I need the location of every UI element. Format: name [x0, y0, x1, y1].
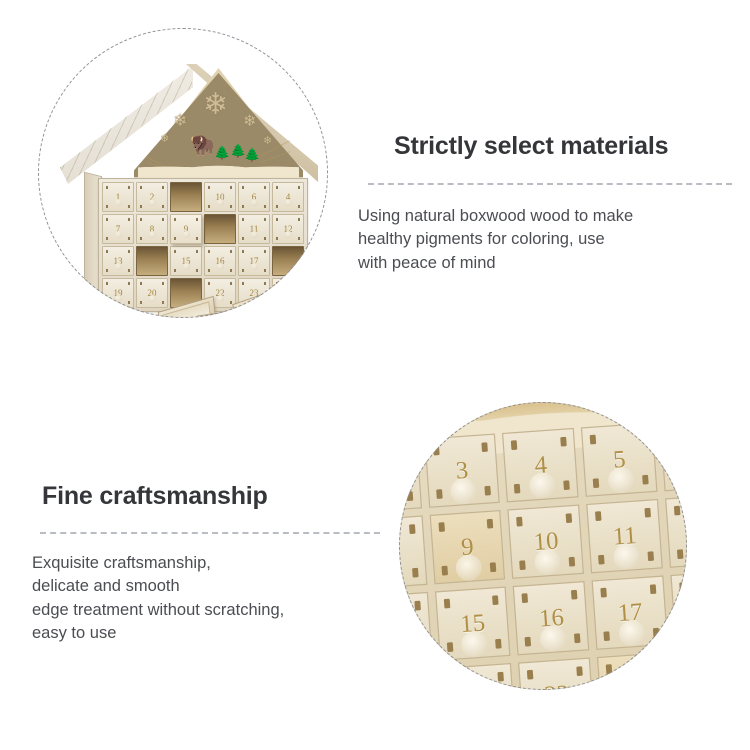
- closeup-drawer-cell[interactable]: 20: [399, 668, 438, 690]
- drawer-cell[interactable]: 11: [238, 214, 270, 244]
- closeup-drawer-cell[interactable]: 15: [434, 586, 510, 660]
- drawer-cell[interactable]: 19: [102, 278, 134, 308]
- drawer-cell[interactable]: 10: [204, 182, 236, 212]
- closeup-drawer-cell[interactable]: 21: [440, 663, 516, 690]
- drawer-cell[interactable]: 6: [238, 182, 270, 212]
- description-line: Using natural boxwood wood to make: [358, 205, 744, 228]
- closeup-drawer-cell[interactable]: 9: [429, 510, 505, 584]
- closeup-drawer-grid: 4 3 4 5 6 8 9 10 11 12 14 15 16 17 18 20…: [399, 417, 687, 690]
- dashed-divider: [40, 532, 380, 534]
- closeup-drawer-cell[interactable]: 24: [676, 646, 687, 690]
- section-title: Fine craftsmanship: [42, 482, 404, 511]
- drawer-cell-open[interactable]: [136, 246, 168, 276]
- closeup-drawer-cell[interactable]: 5: [581, 422, 657, 496]
- closeup-drawer-cell[interactable]: 18: [671, 570, 687, 644]
- drawer-cell[interactable]: 17: [238, 246, 270, 276]
- closeup-drawer-cell[interactable]: 4: [399, 439, 422, 513]
- snowflake-icon: ❄: [160, 134, 169, 145]
- snowflake-icon: ❄: [243, 114, 256, 130]
- closeup-drawer-cell[interactable]: 10: [508, 504, 584, 578]
- feature-block-materials: Strictly select materials Using natural …: [358, 132, 744, 275]
- drawer-cell[interactable]: 8: [136, 214, 168, 244]
- closeup-drawer-cell[interactable]: 6: [660, 417, 687, 491]
- description-line: delicate and smooth: [32, 575, 404, 598]
- drawer-cell[interactable]: 15: [170, 246, 202, 276]
- closeup-illustration: 4 3 4 5 6 8 9 10 11 12 14 15 16 17 18 20…: [399, 402, 687, 690]
- closeup-drawer-cell[interactable]: 3: [424, 433, 500, 507]
- feature-description: Exquisite craftsmanship, delicate and sm…: [32, 552, 404, 646]
- closeup-drawer-cell[interactable]: 22: [519, 657, 595, 690]
- drawer-cell-open[interactable]: [170, 182, 202, 212]
- drawer-cell-open[interactable]: [204, 214, 236, 244]
- product-feature-panel: ❄ ❄ ❄ ❄ ❄ 🦬 🌲 🌲 🌲 1 2 10 6: [0, 0, 750, 750]
- house-illustration: ❄ ❄ ❄ ❄ ❄ 🦬 🌲 🌲 🌲 1 2 10 6: [38, 28, 328, 318]
- description-line: edge treatment without scratching,: [32, 599, 404, 622]
- closeup-drawer-cell[interactable]: 12: [665, 493, 687, 567]
- feature-block-craftsmanship: Fine craftsmanship Exquisite craftsmansh…: [32, 482, 404, 646]
- snowflake-icon: ❄: [203, 90, 228, 120]
- drawer-cell-open[interactable]: [272, 246, 304, 276]
- drawer-cell-pulled[interactable]: 9: [170, 214, 202, 244]
- closeup-drawer-cell[interactable]: 23: [597, 652, 673, 690]
- snowflake-icon: ❄: [173, 112, 187, 129]
- closeup-drawer-cell[interactable]: 11: [587, 499, 663, 573]
- closeup-drawer-cell[interactable]: 14: [399, 592, 432, 666]
- closeup-drawer-cell[interactable]: 17: [592, 575, 668, 649]
- snowflake-icon: ❄: [263, 136, 272, 147]
- page-title: Strictly select materials: [394, 132, 744, 161]
- drawer-grid-closeup-photo: 4 3 4 5 6 8 9 10 11 12 14 15 16 17 18 20…: [399, 402, 687, 690]
- reindeer-icon: 🦬: [190, 136, 205, 160]
- drawer-cell[interactable]: 7: [102, 214, 134, 244]
- drawer-cell[interactable]: 1: [102, 182, 134, 212]
- closeup-drawer-cell[interactable]: 8: [399, 515, 427, 589]
- drawer-cell[interactable]: 12: [272, 214, 304, 244]
- drawer-cell[interactable]: 4: [272, 182, 304, 212]
- dashed-divider: [368, 183, 732, 185]
- closeup-drawer-cell[interactable]: 16: [513, 581, 589, 655]
- pine-tree-icon: 🌲: [244, 148, 260, 161]
- feature-description: Using natural boxwood wood to make healt…: [358, 205, 744, 275]
- advent-calendar-house-photo: ❄ ❄ ❄ ❄ ❄ 🦬 🌲 🌲 🌲 1 2 10 6: [38, 28, 328, 318]
- description-line: with peace of mind: [358, 252, 744, 275]
- drawer-cell[interactable]: 2: [136, 182, 168, 212]
- closeup-drawer-cell[interactable]: 4: [503, 428, 579, 502]
- drawer-cell[interactable]: 16: [204, 246, 236, 276]
- drawer-cell[interactable]: 20: [136, 278, 168, 308]
- drawer-cell[interactable]: 13: [102, 246, 134, 276]
- description-line: healthy pigments for coloring, use: [358, 228, 744, 251]
- pine-tree-icon: 🌲: [214, 146, 230, 159]
- description-line: Exquisite craftsmanship,: [32, 552, 404, 575]
- description-line: easy to use: [32, 622, 404, 645]
